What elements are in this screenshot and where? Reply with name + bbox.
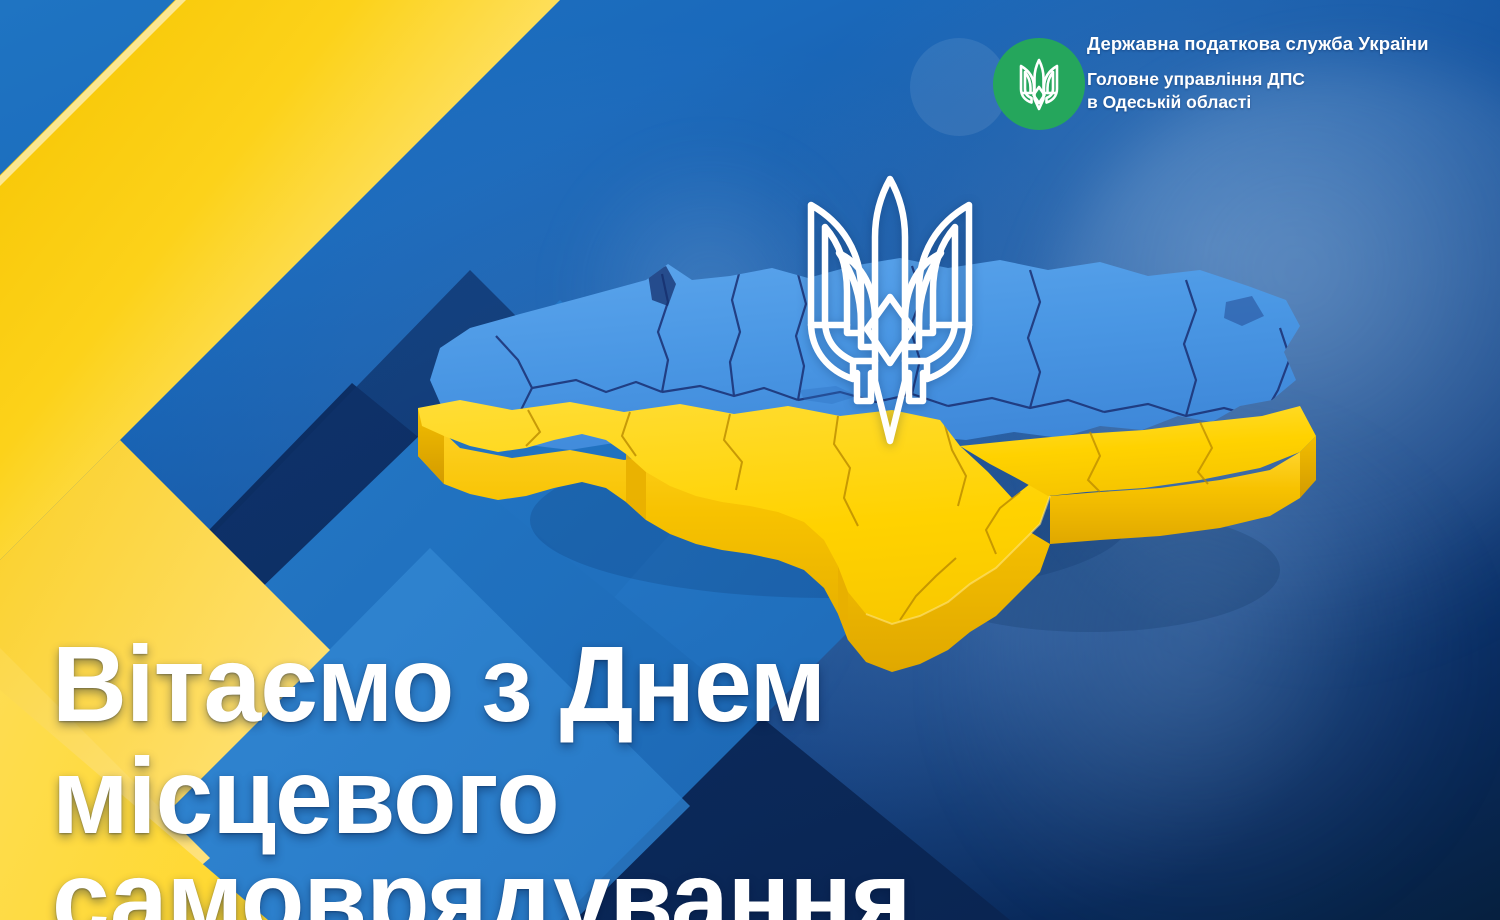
header-branding: Державна податкова служба України Головн… bbox=[905, 22, 1485, 142]
header-text-block: Державна податкова служба України Головн… bbox=[1087, 22, 1429, 113]
headline-line-1: Вітаємо з Днем bbox=[52, 632, 1415, 736]
emblem-badge bbox=[993, 38, 1085, 130]
department-line-2: в Одеській області bbox=[1087, 91, 1429, 113]
organization-name: Державна податкова служба України bbox=[1087, 33, 1429, 54]
department-line-1: Головне управління ДПС bbox=[1087, 68, 1429, 90]
logo-marks bbox=[905, 22, 1045, 132]
department-name: Головне управління ДПС в Одеській област… bbox=[1087, 68, 1429, 113]
headline-line-2: місцевого самоврядування bbox=[52, 744, 1415, 920]
trident-icon bbox=[1017, 57, 1061, 111]
poster-canvas: Державна податкова служба України Головн… bbox=[0, 0, 1500, 920]
trident-outline-icon bbox=[795, 165, 985, 455]
headline: Вітаємо з Днем місцевого самоврядування bbox=[52, 632, 1415, 920]
